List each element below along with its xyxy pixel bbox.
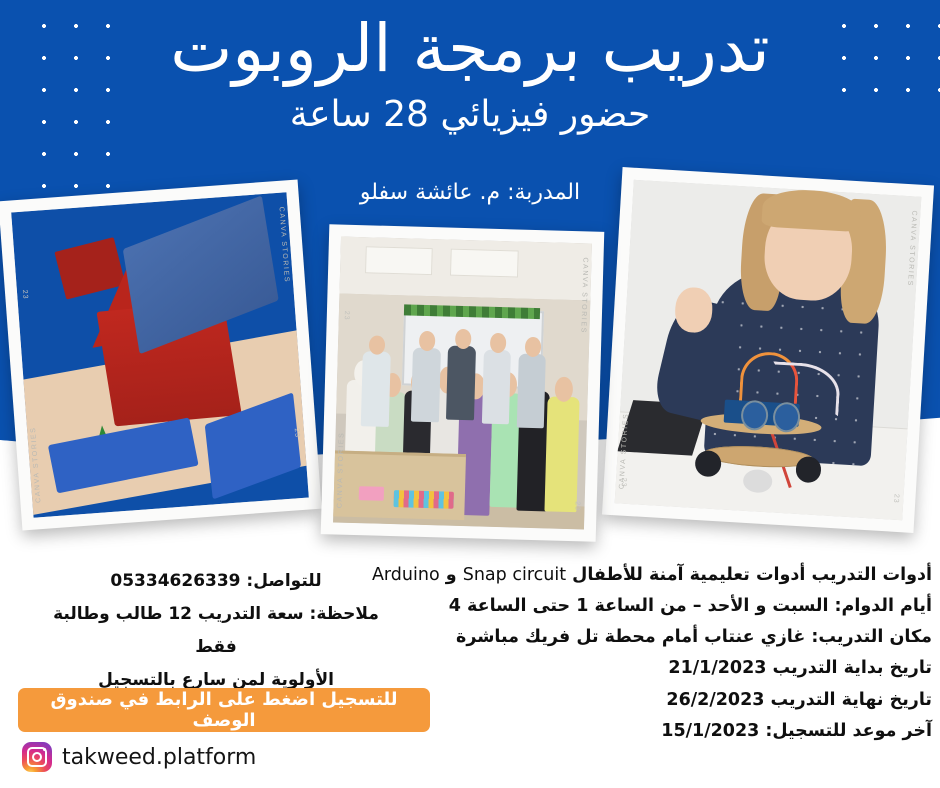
desk-item bbox=[394, 490, 455, 509]
person bbox=[446, 345, 476, 420]
person bbox=[361, 352, 391, 427]
detail-tools-join: و bbox=[446, 565, 457, 585]
contact-capacity-note: ملاحظة: سعة التدريب 12 طالب وطالبة فقط bbox=[30, 598, 402, 664]
poster-subtitle: حضور فيزيائي 28 ساعة bbox=[0, 92, 940, 137]
ceiling-panel bbox=[365, 246, 433, 276]
frame-tick-label: 23 bbox=[892, 494, 900, 504]
detail-tools-line: أدوات التدريب أدوات تعليمية آمنة للأطفال… bbox=[312, 560, 932, 591]
title-block: تدريب برمجة الروبوت حضور فيزيائي 28 ساعة bbox=[0, 10, 940, 137]
person bbox=[516, 353, 546, 428]
detail-start-date: تاريخ بداية التدريب 21/1/2023 bbox=[312, 653, 932, 684]
photo-house-image: CANVA STORIES CANVA STORIES 23 23 bbox=[11, 192, 309, 517]
detail-tools-label: أدوات التدريب أدوات تعليمية آمنة للأطفال bbox=[572, 565, 932, 585]
poster-title: تدريب برمجة الروبوت bbox=[0, 10, 940, 88]
photo-wooden-model-house: CANVA STORIES CANVA STORIES 23 23 bbox=[0, 179, 322, 530]
robot-scene bbox=[615, 180, 922, 521]
ceiling-panel bbox=[450, 248, 518, 278]
detail-tools-value: Snap circuit bbox=[463, 565, 566, 585]
register-cta-button[interactable]: للتسجيل اضغط على الرابط في صندوق الوصف bbox=[18, 688, 430, 732]
instagram-row[interactable]: takweed.platform bbox=[22, 742, 256, 772]
person bbox=[411, 347, 441, 422]
detail-days: أيام الدوام: السبت و الأحد – من الساعة 1… bbox=[312, 591, 932, 622]
poster-canvas: تدريب برمجة الروبوت حضور فيزيائي 28 ساعة… bbox=[0, 0, 940, 788]
classroom-scene bbox=[333, 237, 592, 530]
instagram-icon[interactable] bbox=[22, 742, 52, 772]
person bbox=[481, 349, 511, 424]
contact-block: للتواصل: 05334626339 ملاحظة: سعة التدريب… bbox=[30, 565, 402, 698]
instagram-handle[interactable]: takweed.platform bbox=[62, 745, 256, 770]
robot-caster-ball bbox=[742, 469, 772, 493]
person bbox=[544, 397, 580, 512]
contact-phone: للتواصل: 05334626339 bbox=[30, 565, 402, 598]
instructor-line: المدربة: م. عائشة سفلو bbox=[0, 180, 940, 205]
photo-robot-image: CANVA STORIES CANVA STORIES 23 23 bbox=[615, 180, 922, 521]
frame-tick-label: 23 bbox=[620, 478, 628, 488]
detail-place: مكان التدريب: غازي عنتاب أمام محطة تل فر… bbox=[312, 622, 932, 653]
frame-tick-label: 23 bbox=[573, 501, 580, 511]
classroom-desk bbox=[333, 451, 465, 521]
frame-tick-label: 23 bbox=[21, 290, 29, 300]
desk-item bbox=[359, 486, 384, 501]
photo-classroom-image: CANVA STORIES CANVA STORIES 23 23 bbox=[333, 237, 592, 530]
house-scene bbox=[11, 192, 309, 517]
house-dormer bbox=[55, 237, 126, 299]
frame-tick-label: 23 bbox=[293, 428, 301, 438]
frame-tick-label: 23 bbox=[343, 311, 350, 321]
photo-classroom-group: CANVA STORIES CANVA STORIES 23 23 bbox=[321, 224, 605, 542]
photo-girl-with-robot: CANVA STORIES CANVA STORIES 23 23 bbox=[602, 167, 934, 533]
